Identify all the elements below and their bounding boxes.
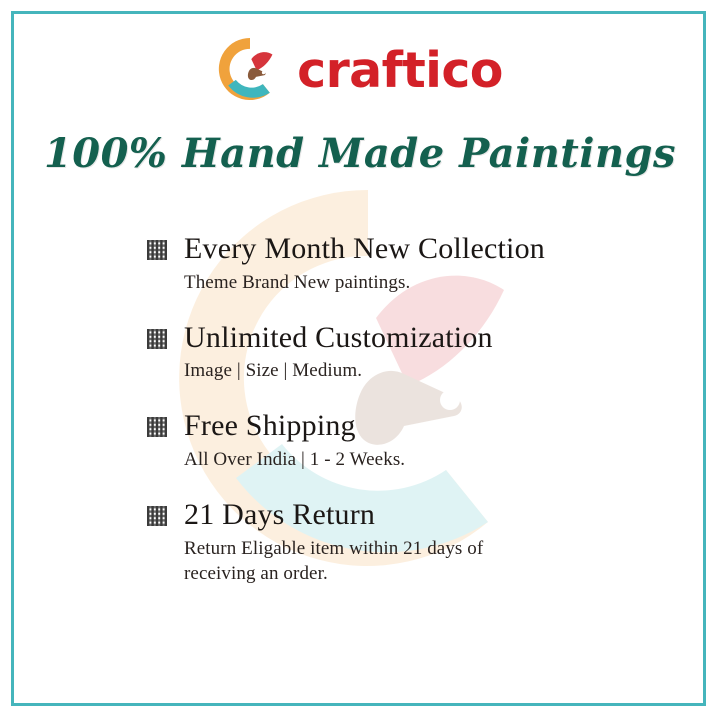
feature-title: Every Month New Collection [184,232,666,266]
list-item: Every Month New Collection Theme Brand N… [146,232,666,295]
feature-subtitle: Image | Size | Medium. [184,358,666,383]
page-title: 100% Hand Made Paintings [0,130,720,177]
feature-title: 21 Days Return [184,498,666,532]
feature-title: Free Shipping [184,409,666,443]
list-item: Free Shipping All Over India | 1 - 2 Wee… [146,409,666,472]
brand-header: craftico [0,36,720,102]
woven-grid-bullet-icon [146,505,168,527]
feature-subtitle: Return Eligable item within 21 days of r… [184,536,544,586]
feature-list: Every Month New Collection Theme Brand N… [146,232,666,586]
craftico-logo-icon [217,36,283,102]
woven-grid-bullet-icon [146,239,168,261]
woven-grid-bullet-icon [146,416,168,438]
woven-grid-bullet-icon [146,328,168,350]
brand-wordmark: craftico [297,46,503,95]
feature-title: Unlimited Customization [184,321,666,355]
list-item: Unlimited Customization Image | Size | M… [146,321,666,384]
list-item: 21 Days Return Return Eligable item with… [146,498,666,586]
banner-canvas: craftico 100% Hand Made Paintings [0,0,720,720]
feature-subtitle: All Over India | 1 - 2 Weeks. [184,447,666,472]
feature-subtitle: Theme Brand New paintings. [184,270,666,295]
